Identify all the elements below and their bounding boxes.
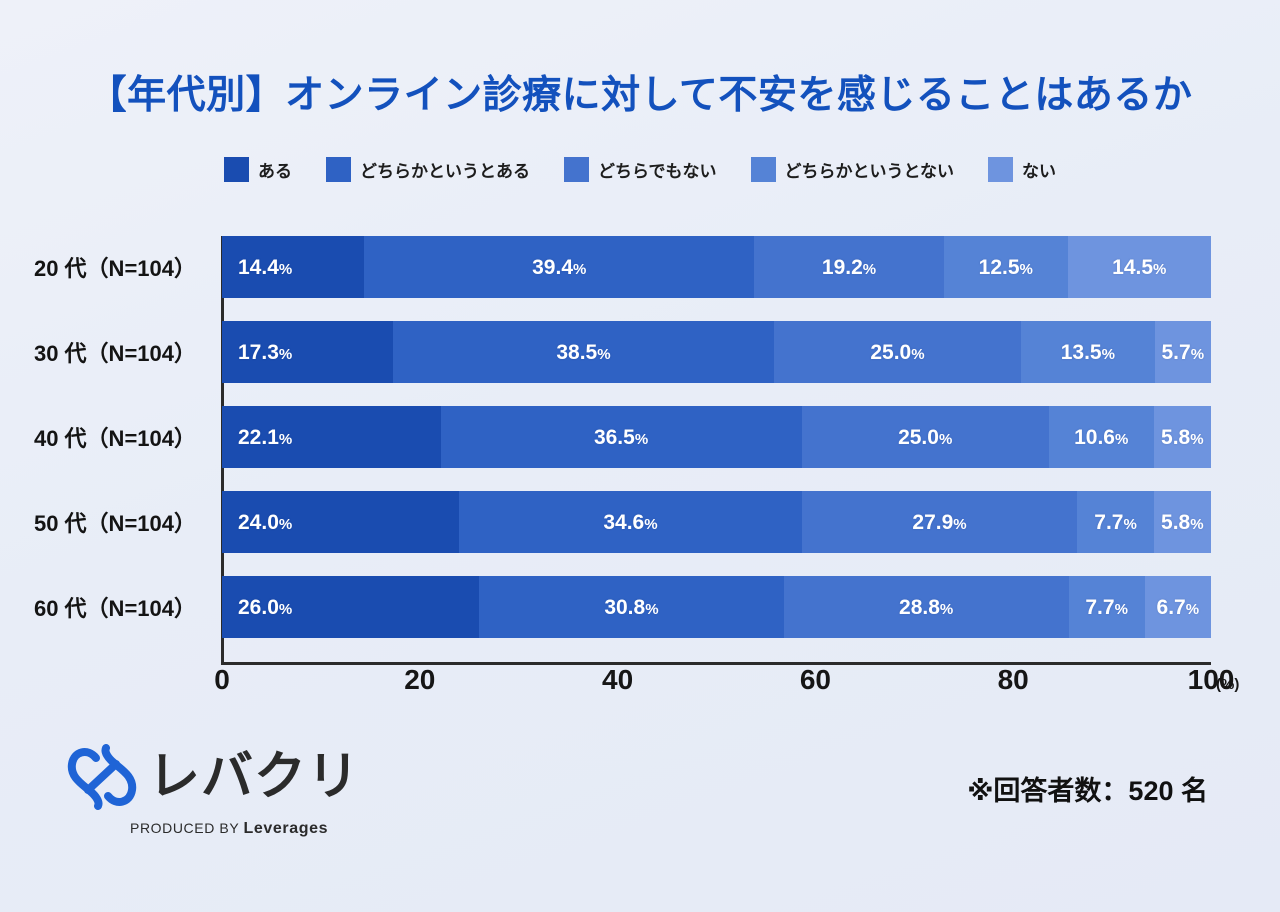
bar-segment[interactable]: 34.6% — [459, 491, 801, 553]
x-axis-unit-label: (%) — [1216, 676, 1239, 693]
legend-item[interactable]: どちらでもない — [564, 157, 717, 182]
category-label: 30 代（N=104） — [0, 321, 205, 383]
x-tick-label: 60 — [800, 664, 831, 696]
stacked-bar: 24.0%34.6%27.9%7.7%5.8% — [222, 491, 1211, 553]
legend-label: ある — [258, 157, 292, 182]
legend-swatch — [564, 157, 589, 182]
bar-value-label: 25.0% — [870, 342, 924, 363]
x-axis-ticks: 020406080100(%) — [0, 664, 1280, 700]
x-tick-label: 80 — [998, 664, 1029, 696]
bar-segment[interactable]: 26.0% — [222, 576, 479, 638]
bar-value-label: 26.0% — [238, 597, 292, 618]
bar-segment[interactable]: 7.7% — [1069, 576, 1145, 638]
bar-value-label: 14.5% — [1112, 257, 1166, 278]
bar-segment[interactable]: 38.5% — [393, 321, 774, 383]
chart-row: 20 代（N=104）14.4%39.4%19.2%12.5%14.5% — [0, 236, 1280, 298]
bar-value-label: 19.2% — [822, 257, 876, 278]
respondents-note: ※回答者数：520 名 — [967, 769, 1208, 808]
bar-value-label: 5.8% — [1161, 512, 1204, 533]
legend-swatch — [326, 157, 351, 182]
bar-value-label: 24.0% — [238, 512, 292, 533]
legend-item[interactable]: どちらかというとある — [326, 157, 530, 182]
logo-tagline: PRODUCED BY Leverages — [130, 820, 366, 838]
bar-segment[interactable]: 17.3% — [222, 321, 393, 383]
chart-row: 30 代（N=104）17.3%38.5%25.0%13.5%5.7% — [0, 321, 1280, 383]
legend-item[interactable]: ある — [224, 157, 292, 182]
bar-segment[interactable]: 30.8% — [479, 576, 784, 638]
x-tick-label: 20 — [404, 664, 435, 696]
bar-segment[interactable]: 36.5% — [441, 406, 802, 468]
brand-logo: レバクリ PRODUCED BY Leverages — [66, 740, 366, 850]
bar-value-label: 17.3% — [238, 342, 292, 363]
bar-value-label: 25.0% — [898, 427, 952, 448]
bar-value-label: 39.4% — [532, 257, 586, 278]
bar-value-label: 5.8% — [1161, 427, 1204, 448]
bar-segment[interactable]: 14.4% — [222, 236, 364, 298]
bar-value-label: 34.6% — [603, 512, 657, 533]
bar-value-label: 28.8% — [899, 597, 953, 618]
logo-tagline-prefix: PRODUCED BY — [130, 820, 244, 836]
logo-wordmark: レバクリ — [148, 751, 360, 803]
page-title: 【年代別】オンライン診療に対して不安を感じることはあるか — [0, 64, 1280, 120]
legend-swatch — [224, 157, 249, 182]
bar-segment[interactable]: 25.0% — [802, 406, 1049, 468]
bar-segment[interactable]: 14.5% — [1068, 236, 1211, 298]
legend-label: どちらかというとない — [785, 157, 955, 182]
x-tick-label: 40 — [602, 664, 633, 696]
bar-value-label: 10.6% — [1074, 427, 1128, 448]
bar-segment[interactable]: 7.7% — [1077, 491, 1153, 553]
category-label: 60 代（N=104） — [0, 576, 205, 638]
bar-segment[interactable]: 27.9% — [802, 491, 1078, 553]
legend-label: ない — [1022, 157, 1056, 182]
chart-row: 60 代（N=104）26.0%30.8%28.8%7.7%6.7% — [0, 576, 1280, 638]
category-label: 50 代（N=104） — [0, 491, 205, 553]
bar-value-label: 38.5% — [556, 342, 610, 363]
bar-value-label: 12.5% — [979, 257, 1033, 278]
chain-link-icon — [66, 744, 138, 810]
legend-label: どちらでもない — [598, 157, 717, 182]
stacked-bar: 26.0%30.8%28.8%7.7%6.7% — [222, 576, 1211, 638]
bar-segment[interactable]: 5.8% — [1154, 406, 1211, 468]
bar-segment[interactable]: 24.0% — [222, 491, 459, 553]
bar-segment[interactable]: 6.7% — [1145, 576, 1211, 638]
bar-value-label: 7.7% — [1094, 512, 1137, 533]
bar-value-label: 7.7% — [1085, 597, 1128, 618]
bar-value-label: 36.5% — [594, 427, 648, 448]
legend-item[interactable]: ない — [988, 157, 1056, 182]
bar-value-label: 13.5% — [1061, 342, 1115, 363]
bar-value-label: 14.4% — [238, 257, 292, 278]
bar-segment[interactable]: 28.8% — [784, 576, 1069, 638]
legend-item[interactable]: どちらかというとない — [751, 157, 955, 182]
category-label: 40 代（N=104） — [0, 406, 205, 468]
bar-segment[interactable]: 19.2% — [754, 236, 944, 298]
stacked-bar: 14.4%39.4%19.2%12.5%14.5% — [222, 236, 1211, 298]
bar-segment[interactable]: 13.5% — [1021, 321, 1155, 383]
bar-segment[interactable]: 22.1% — [222, 406, 441, 468]
bar-segment[interactable]: 10.6% — [1049, 406, 1154, 468]
bar-value-label: 5.7% — [1162, 342, 1205, 363]
chart-legend: あるどちらかというとあるどちらでもないどちらかというとないない — [0, 157, 1280, 182]
bar-value-label: 30.8% — [604, 597, 658, 618]
legend-swatch — [988, 157, 1013, 182]
bar-segment[interactable]: 39.4% — [364, 236, 754, 298]
chart-row: 40 代（N=104）22.1%36.5%25.0%10.6%5.8% — [0, 406, 1280, 468]
legend-swatch — [751, 157, 776, 182]
bar-segment[interactable]: 5.8% — [1154, 491, 1211, 553]
bar-value-label: 22.1% — [238, 427, 292, 448]
bar-segment[interactable]: 12.5% — [944, 236, 1068, 298]
x-tick-label: 0 — [214, 664, 230, 696]
chart-plot-area: 20 代（N=104）14.4%39.4%19.2%12.5%14.5%30 代… — [0, 236, 1280, 666]
category-label: 20 代（N=104） — [0, 236, 205, 298]
stacked-bar: 17.3%38.5%25.0%13.5%5.7% — [222, 321, 1211, 383]
legend-label: どちらかというとある — [360, 157, 530, 182]
logo-tagline-brand: Leverages — [244, 820, 329, 837]
bar-segment[interactable]: 5.7% — [1155, 321, 1211, 383]
chart-row: 50 代（N=104）24.0%34.6%27.9%7.7%5.8% — [0, 491, 1280, 553]
bar-value-label: 6.7% — [1157, 597, 1200, 618]
stacked-bar: 22.1%36.5%25.0%10.6%5.8% — [222, 406, 1211, 468]
bar-segment[interactable]: 25.0% — [774, 321, 1021, 383]
bar-value-label: 27.9% — [912, 512, 966, 533]
